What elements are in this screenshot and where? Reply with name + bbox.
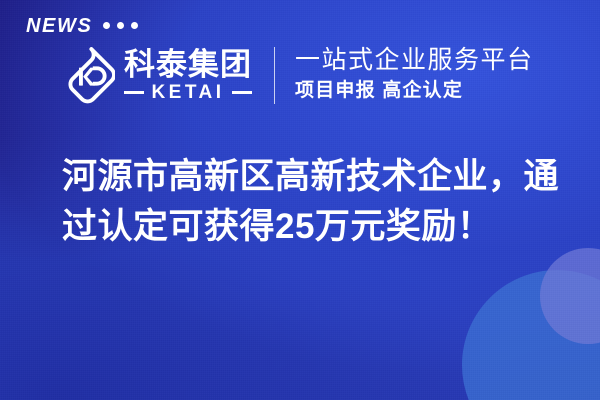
dot-icon (103, 22, 110, 29)
news-label: NEWS (26, 16, 92, 36)
brand-wordmark: 科泰集团 KETAI (124, 48, 252, 101)
ketai-diamond-kd-logo-icon (55, 46, 115, 106)
tagline-main: 一站式企业服务平台 (295, 46, 534, 76)
banner-content: NEWS 科泰集团 (0, 0, 600, 400)
brand-name-cn: 科泰集团 (124, 48, 252, 81)
brand-rule-right (232, 91, 252, 94)
brand-name-en: KETAI (151, 83, 224, 102)
dot-icon (117, 22, 124, 29)
headline-line-1: 河源市高新区高新技术企业，通 (62, 152, 562, 202)
brand-rule-left (124, 91, 144, 94)
news-banner: NEWS 科泰集团 (0, 0, 600, 400)
tagline-sub: 项目申报 高企认定 (295, 79, 534, 104)
news-tag: NEWS (26, 16, 138, 36)
tagline-block: 一站式企业服务平台 项目申报 高企认定 (295, 46, 534, 103)
brand-divider (274, 47, 275, 104)
brand-header: 科泰集团 KETAI 一站式企业服务平台 项目申报 高企认定 (55, 44, 534, 106)
dot-icon (131, 22, 138, 29)
headline-line-2: 过认定可获得25万元奖励！ (62, 202, 562, 252)
headline: 河源市高新区高新技术企业，通 过认定可获得25万元奖励！ (62, 152, 562, 251)
news-dots (103, 22, 138, 30)
brand-name-en-row: KETAI (124, 83, 252, 102)
